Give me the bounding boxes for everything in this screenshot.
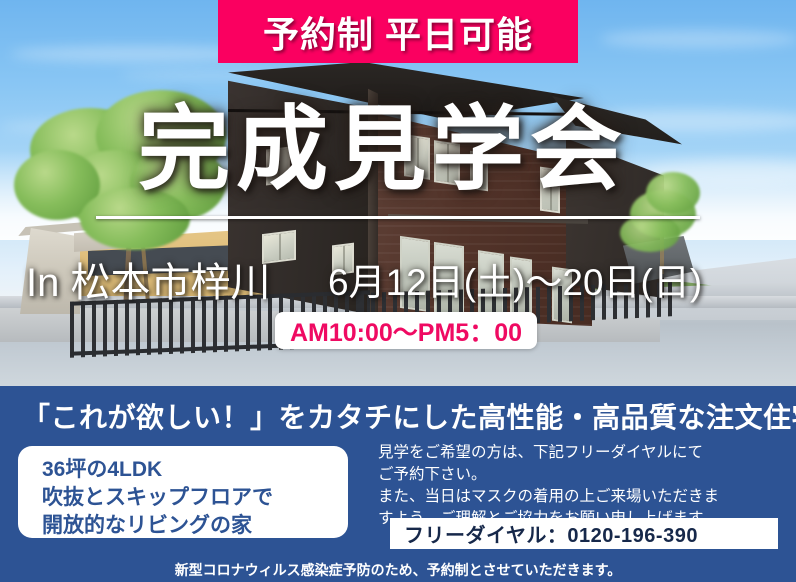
event-dates: 6月12日(土)〜20日(日) (328, 252, 702, 306)
feature-box: 36坪の4LDK 吹抜とスキップフロアで 開放的なリビングの家 (18, 446, 348, 538)
covid-footnote: 新型コロナウィルス感染症予防のため、予約制とさせていただきます。 (0, 560, 796, 580)
feature-line: 吹抜とスキップフロアで (42, 484, 348, 512)
notice-line: ご予約下さい。 (378, 464, 788, 486)
title-divider (96, 216, 700, 219)
tree-foliage-icon (620, 214, 680, 252)
feature-line: 開放的なリビングの家 (42, 512, 348, 540)
notice-line: また、当日はマスクの着用の上ご来場いただきま (378, 486, 788, 508)
poster-root: 予約制 平日可能 完成見学会 In 松本市梓川 6月12日(土)〜20日(日) … (0, 0, 796, 582)
reservation-notice: 見学をご希望の方は、下記フリーダイヤルにて ご予約下さい。 また、当日はマスクの… (378, 442, 788, 530)
event-location: In 松本市梓川 (26, 250, 270, 308)
info-panel: 「これが欲しい！」をカタチにした高性能・高品質な注文住宅 36坪の4LDK 吹抜… (0, 386, 796, 582)
phone-number-label: フリーダイヤル：0120-196-390 (404, 519, 698, 548)
event-hours-label: AM10:00〜PM5：00 (290, 313, 522, 349)
event-hours-badge: AM10:00〜PM5：00 (275, 312, 537, 349)
tree-foliage-icon (646, 172, 700, 214)
tagline: 「これが欲しい！」をカタチにした高性能・高品質な注文住宅 (22, 396, 796, 436)
phone-box[interactable]: フリーダイヤル：0120-196-390 (390, 518, 778, 549)
reservation-banner-label: 予約制 平日可能 (263, 6, 533, 58)
feature-line: 36坪の4LDK (42, 456, 348, 484)
notice-line: 見学をご希望の方は、下記フリーダイヤルにて (378, 442, 788, 464)
page-title: 完成見学会 (138, 104, 628, 196)
reservation-banner: 予約制 平日可能 (218, 0, 578, 63)
